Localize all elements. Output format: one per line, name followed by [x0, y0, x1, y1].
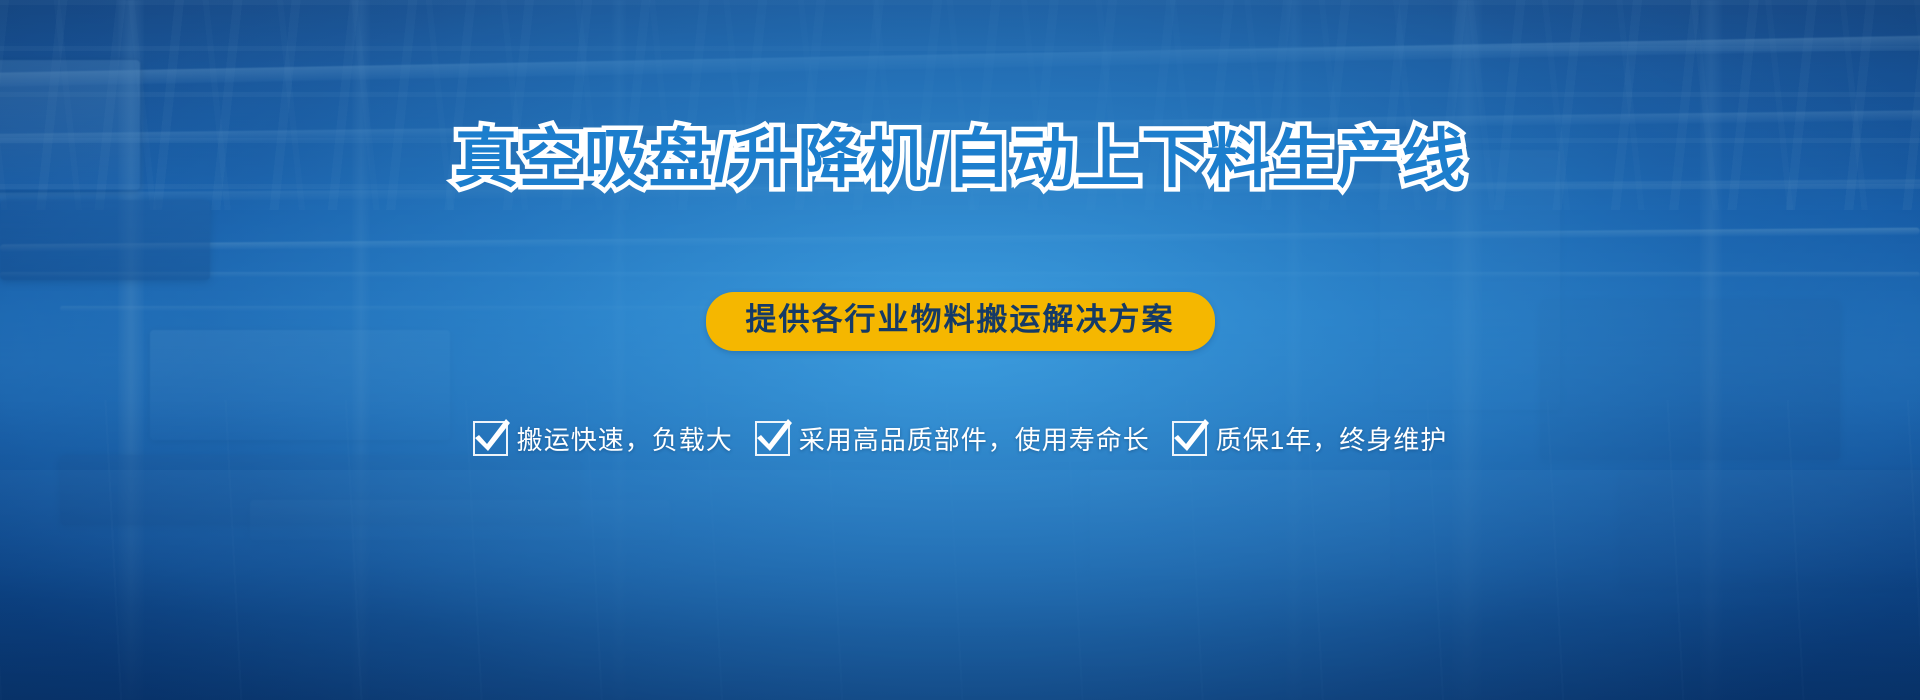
feature-label: 搬运快速，负载大 — [517, 420, 733, 457]
check-mark-icon — [473, 421, 508, 456]
banner-headline: 真空吸盘/升降机/自动上下料生产线 — [0, 126, 1920, 193]
feature-item: 采用高品质部件，使用寿命长 — [755, 420, 1150, 457]
feature-item: 质保1年，终身维护 — [1172, 420, 1447, 457]
feature-label: 采用高品质部件，使用寿命长 — [799, 420, 1150, 457]
banner-content: 真空吸盘/升降机/自动上下料生产线 提供各行业物料搬运解决方案 搬运快速，负载大 — [0, 0, 1920, 700]
feature-label: 质保1年，终身维护 — [1216, 420, 1447, 457]
check-mark-icon — [1172, 421, 1207, 456]
tagline-badge: 提供各行业物料搬运解决方案 — [706, 292, 1215, 351]
badge-row: 提供各行业物料搬运解决方案 — [0, 292, 1920, 351]
feature-list: 搬运快速，负载大 采用高品质部件，使用寿命长 质保1年，终身维护 — [0, 420, 1920, 457]
promo-banner: 真空吸盘/升降机/自动上下料生产线 提供各行业物料搬运解决方案 搬运快速，负载大 — [0, 0, 1920, 700]
check-mark-icon — [755, 421, 790, 456]
feature-item: 搬运快速，负载大 — [473, 420, 733, 457]
